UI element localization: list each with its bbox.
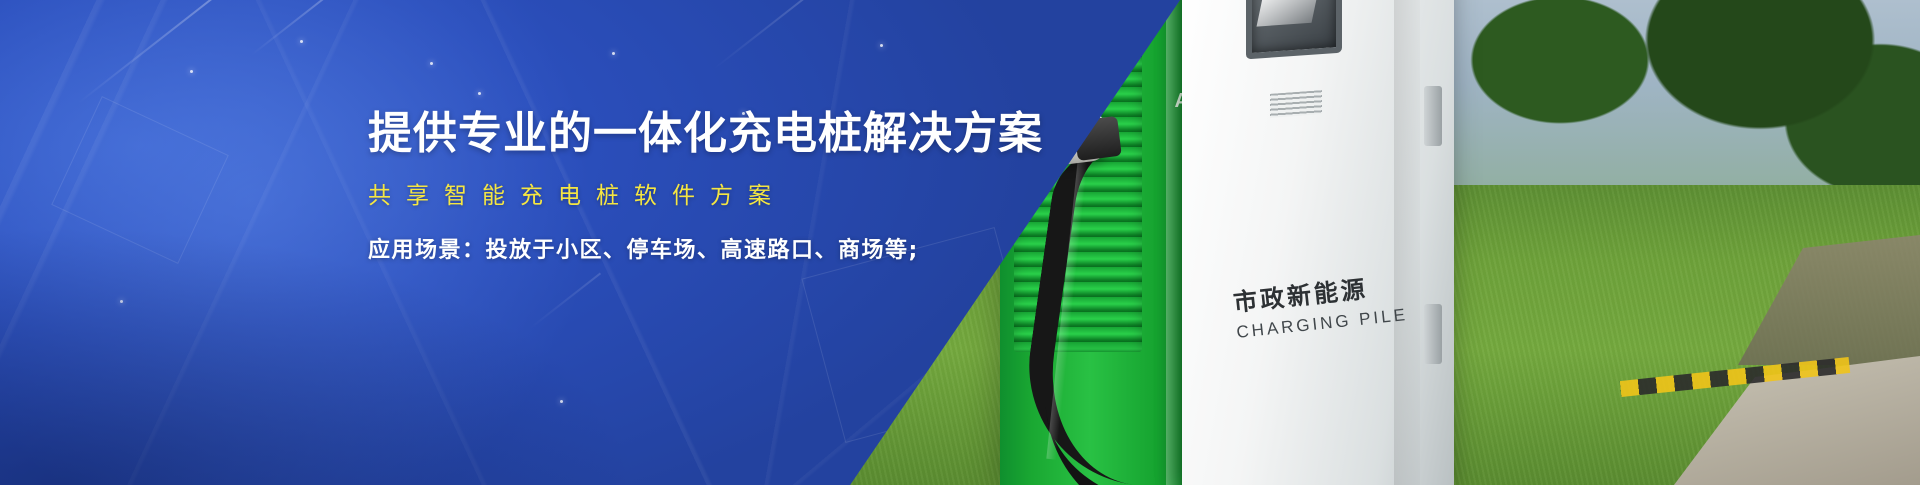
vent-slots-icon xyxy=(1270,90,1322,118)
banner-tagline: 应用场景：投放于小区、停车场、高速路口、商场等; xyxy=(368,232,1008,264)
sparkle-dot-icon xyxy=(300,40,303,43)
sparkle-dot-icon xyxy=(880,44,883,47)
hero-banner: A 市政新能源 CHARGING PILE xyxy=(0,0,1920,485)
banner-subtitle: 共享智能充电桩软件方案 xyxy=(368,176,1008,210)
sparkle-dot-icon xyxy=(430,62,433,65)
charging-cable-lower xyxy=(1046,394,1245,485)
sparkle-dot-icon xyxy=(612,52,615,55)
charger-side-shadow xyxy=(1394,0,1420,485)
sparkle-dot-icon xyxy=(190,70,193,73)
charger-hinge xyxy=(1424,304,1442,364)
panel-vignette xyxy=(0,225,640,485)
sparkle-dot-icon xyxy=(478,92,481,95)
charger-hinge xyxy=(1424,86,1442,146)
lcd-screen-icon xyxy=(1246,0,1342,59)
banner-copy: 提供专业的一体化充电桩解决方案 共享智能充电桩软件方案 应用场景：投放于小区、停… xyxy=(368,108,1008,264)
charger-brand-plate: 市政新能源 CHARGING PILE xyxy=(1231,265,1409,343)
page-title: 提供专业的一体化充电桩解决方案 xyxy=(368,108,1008,160)
